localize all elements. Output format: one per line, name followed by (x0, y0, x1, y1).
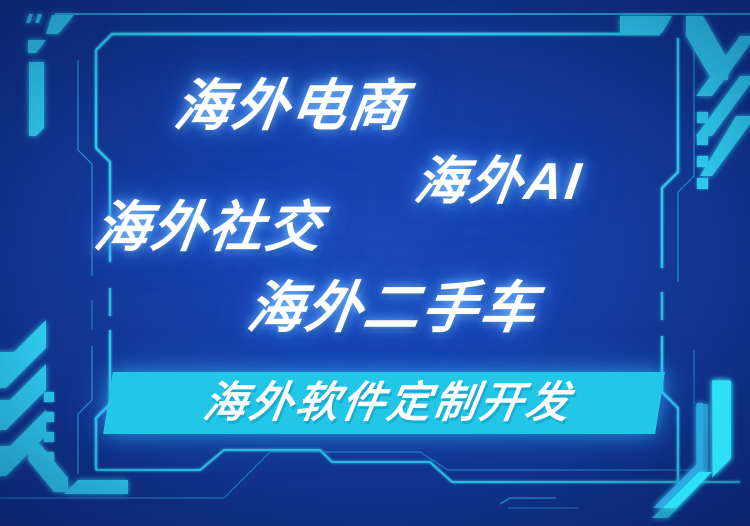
headline-stack: 海外电商 海外AI 海外社交 海外二手车 (0, 0, 750, 526)
headline-overseas-social: 海外社交 (91, 200, 327, 255)
software-banner-label: 海外软件定制开发 (124, 380, 651, 426)
headline-overseas-ai: 海外AI (411, 156, 586, 208)
headline-overseas-used-cars: 海外二手车 (244, 280, 542, 336)
poster-canvas: 海外电商 海外AI 海外社交 海外二手车 海外软件定制开发 (0, 0, 750, 526)
headline-overseas-ecommerce: 海外电商 (171, 78, 411, 134)
